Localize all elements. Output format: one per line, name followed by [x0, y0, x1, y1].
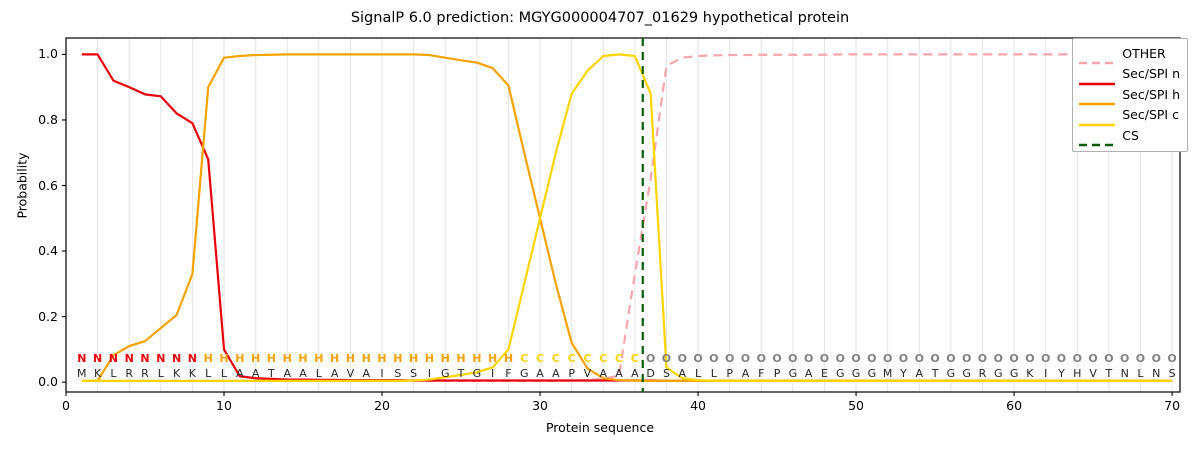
y-tick-label: 1.0: [12, 46, 58, 61]
y-tick-label: 0.8: [12, 112, 58, 127]
y-tick-label: 0.4: [12, 243, 58, 258]
legend-label: CS: [1122, 128, 1139, 143]
x-tick-label: 70: [1152, 398, 1192, 413]
x-axis-label: Protein sequence: [0, 420, 1200, 435]
x-tick-label: 50: [836, 398, 876, 413]
y-tick-label: 0.6: [12, 178, 58, 193]
x-tick-label: 10: [204, 398, 244, 413]
legend-label: OTHER: [1122, 46, 1165, 61]
x-tick-label: 60: [994, 398, 1034, 413]
plot-canvas: [0, 0, 1200, 450]
chart-title: SignalP 6.0 prediction: MGYG000004707_01…: [0, 10, 1200, 26]
legend: OTHER Sec/SPI n Sec/SPI h Sec/SPI c CS: [1072, 38, 1188, 152]
x-tick-label: 30: [520, 398, 560, 413]
signalp-prediction-figure: SignalP 6.0 prediction: MGYG000004707_01…: [0, 0, 1200, 450]
legend-item[interactable]: OTHER: [1079, 43, 1180, 64]
x-tick-label: 20: [362, 398, 402, 413]
legend-label: Sec/SPI h: [1122, 87, 1180, 102]
x-tick-label: 0: [46, 398, 86, 413]
legend-label: Sec/SPI c: [1122, 107, 1179, 122]
y-tick-label: 0.0: [12, 374, 58, 389]
x-tick-label: 40: [678, 398, 718, 413]
legend-label: Sec/SPI n: [1122, 66, 1180, 81]
y-tick-label: 0.2: [12, 309, 58, 324]
